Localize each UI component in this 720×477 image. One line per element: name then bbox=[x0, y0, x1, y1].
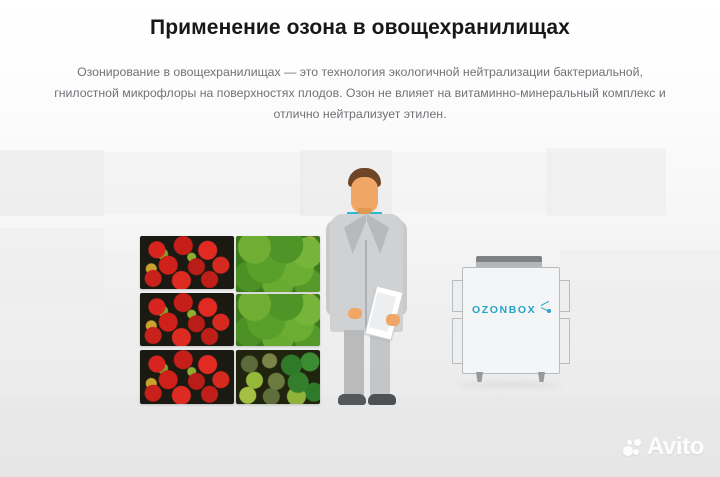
background-panel bbox=[0, 150, 104, 216]
unit-leg-left bbox=[476, 372, 483, 382]
background-panel bbox=[0, 228, 104, 306]
background-panel bbox=[546, 148, 666, 216]
promo-banner: Применение озона в овощехранилищах Озони… bbox=[0, 0, 720, 477]
background-panel bbox=[104, 152, 304, 214]
crate-green-peppers bbox=[236, 350, 320, 404]
avito-wordmark: Avito bbox=[647, 435, 704, 459]
crate-red-top bbox=[140, 236, 234, 289]
background-panel bbox=[392, 152, 552, 212]
unit-body bbox=[462, 267, 560, 374]
coat-placket bbox=[365, 240, 367, 332]
right-hand bbox=[386, 314, 400, 326]
crate-red-middle bbox=[140, 293, 234, 346]
background-panel bbox=[560, 250, 720, 330]
left-shoe bbox=[338, 394, 366, 405]
unit-shadow bbox=[458, 382, 562, 388]
crate-red-bottom bbox=[140, 350, 234, 404]
worker-in-lab-coat bbox=[318, 168, 414, 408]
molecule-icon bbox=[539, 300, 552, 313]
unit-leg-right bbox=[538, 372, 545, 382]
avito-watermark: Avito bbox=[623, 435, 704, 459]
page-description: Озонирование в овощехранилищах — это тех… bbox=[52, 62, 668, 125]
header-area: Применение озона в овощехранилищах Озони… bbox=[0, 0, 720, 145]
right-shoe bbox=[368, 394, 396, 405]
crate-herbs-top bbox=[236, 236, 320, 292]
ozonbox-wordmark: OZONBOX bbox=[472, 304, 536, 316]
ozonbox-logo: OZONBOX bbox=[472, 302, 552, 318]
left-leg bbox=[344, 330, 364, 398]
vegetable-crates-group bbox=[140, 236, 320, 404]
ozone-generator-unit: OZONBOX bbox=[452, 256, 568, 396]
page-title: Применение озона в овощехранилищах bbox=[0, 16, 720, 40]
crate-herbs-bottom bbox=[236, 294, 320, 346]
avito-dots-icon bbox=[623, 437, 643, 457]
left-hand bbox=[348, 308, 362, 319]
right-leg bbox=[370, 330, 390, 398]
